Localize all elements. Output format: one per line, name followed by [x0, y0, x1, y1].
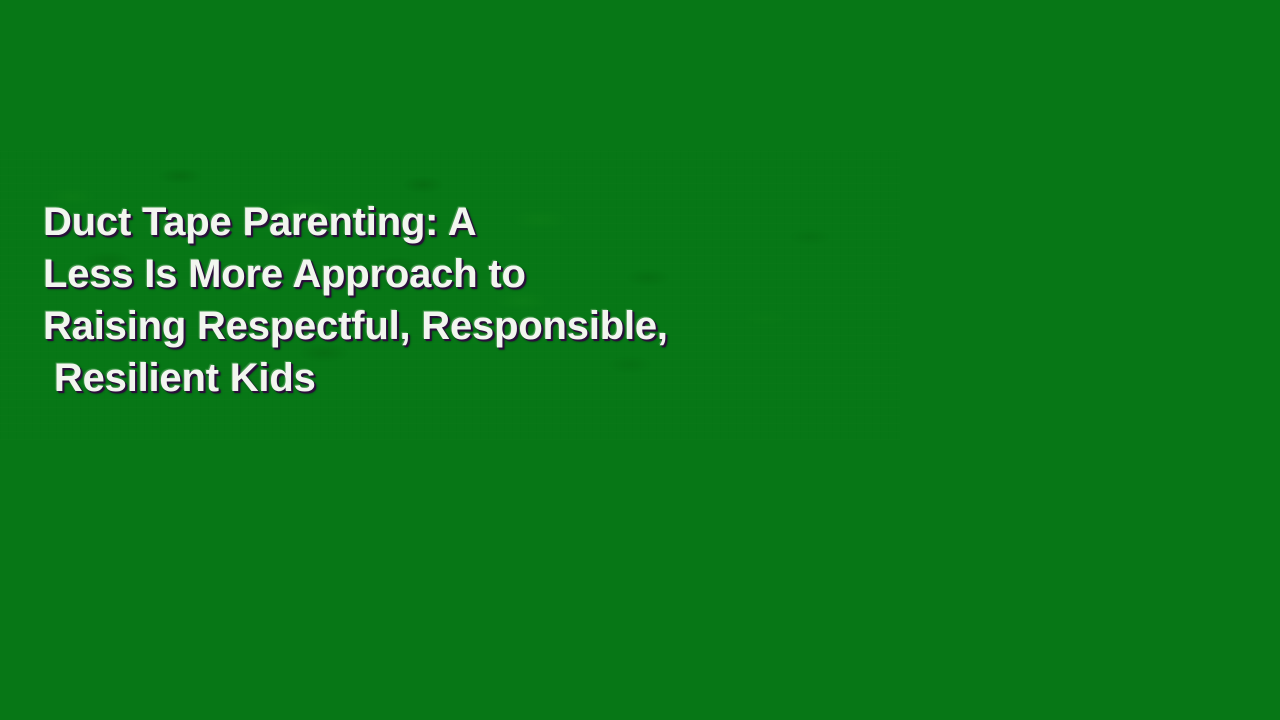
- title-line-1: Duct Tape Parenting: A: [43, 196, 1223, 248]
- title-line-4: Resilient Kids: [43, 352, 1223, 404]
- book-title-card: Duct Tape Parenting: A Less Is More Appr…: [0, 0, 1280, 720]
- title-line-3: Raising Respectful, Responsible,: [43, 300, 1223, 352]
- book-title: Duct Tape Parenting: A Less Is More Appr…: [43, 196, 1223, 404]
- title-line-2: Less Is More Approach to: [43, 248, 1223, 300]
